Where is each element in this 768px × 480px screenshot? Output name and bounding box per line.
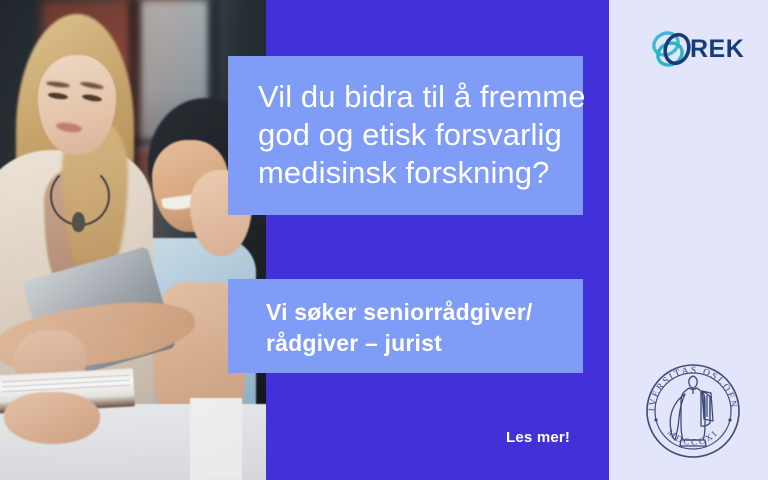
headline-callout: Vil du bidra til å fremme god og etisk f… (228, 56, 583, 215)
rek-logo[interactable]: REK (650, 26, 740, 72)
headline-line-1: Vil du bidra til å fremme (258, 78, 555, 116)
recruitment-banner: Vil du bidra til å fremme god og etisk f… (0, 0, 768, 480)
role-line-2: rådgiver – jurist (266, 328, 559, 359)
read-more-link[interactable]: Les mer! (506, 429, 570, 446)
uio-apollo-seal-icon: UNIVERSITAS OSLOENSIS MDCCCXI (640, 358, 746, 464)
role-line-1: Vi søker seniorrådgiver/ (266, 297, 559, 328)
rek-wordmark: REK (690, 35, 744, 64)
headline-line-3: medisinsk forskning? (258, 154, 555, 192)
headline-line-2: god og etisk forsvarlig (258, 116, 555, 154)
role-callout: Vi søker seniorrådgiver/ rådgiver – juri… (228, 279, 583, 373)
team-photo (0, 0, 266, 480)
rek-interlocking-rings-icon (650, 27, 694, 71)
photo-overlay (0, 0, 266, 480)
